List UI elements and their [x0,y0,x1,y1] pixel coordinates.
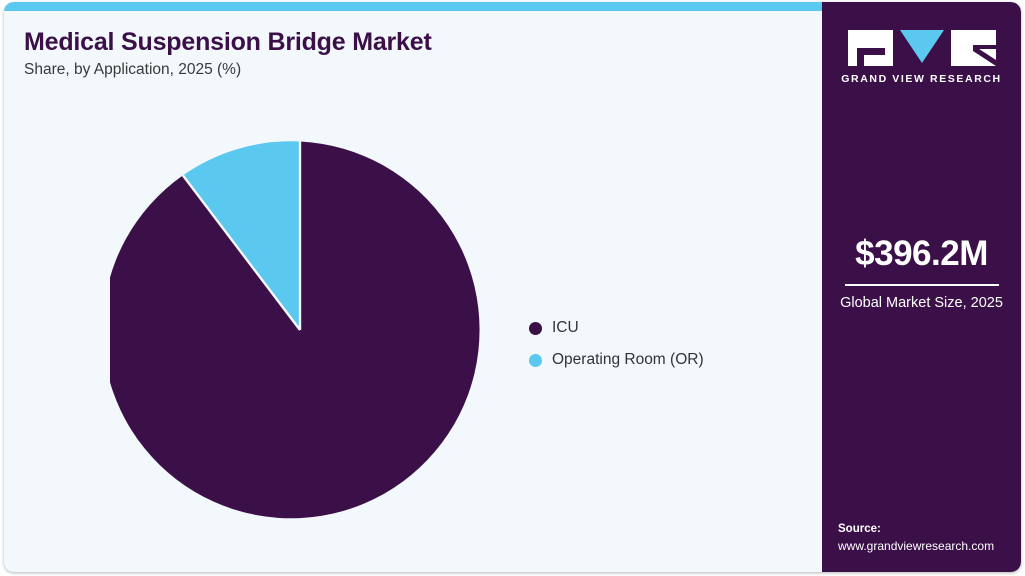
market-size-block: $396.2M Global Market Size, 2025 [822,236,1021,313]
legend-dot-operating-room [529,354,542,367]
brand-sidebar: GRAND VIEW RESEARCH $396.2M Global Marke… [822,2,1021,572]
source-block: Source: www.grandviewresearch.com [838,521,1021,555]
top-accent-bar [4,2,822,11]
market-size-caption: Global Market Size, 2025 [822,294,1021,314]
chart-pane: Medical Suspension Bridge Market Share, … [4,11,822,572]
infographic-card: Medical Suspension Bridge Market Share, … [4,2,1021,572]
brand-logo-text: GRAND VIEW RESEARCH [822,73,1021,85]
source-label: Source: [838,521,1021,538]
source-url[interactable]: www.grandviewresearch.com [838,538,1021,555]
legend-dot-icu [529,322,542,335]
infographic-root: Medical Suspension Bridge Market Share, … [0,0,1025,576]
legend-label-operating-room: Operating Room (OR) [552,351,704,369]
market-size-divider [845,284,999,286]
market-size-value: $396.2M [822,236,1021,273]
brand-logo: GRAND VIEW RESEARCH [822,30,1021,85]
pie-chart-svg [110,140,490,520]
legend-item-icu[interactable]: ICU [529,312,779,344]
legend-item-operating-room[interactable]: Operating Room (OR) [529,344,779,376]
page-subtitle: Share, by Application, 2025 (%) [24,61,241,79]
chart-legend: ICU Operating Room (OR) [529,312,779,376]
legend-label-icu: ICU [552,319,579,337]
pie-chart [110,140,490,520]
page-title: Medical Suspension Bridge Market [24,28,432,57]
gvr-logo-icon [848,30,996,66]
